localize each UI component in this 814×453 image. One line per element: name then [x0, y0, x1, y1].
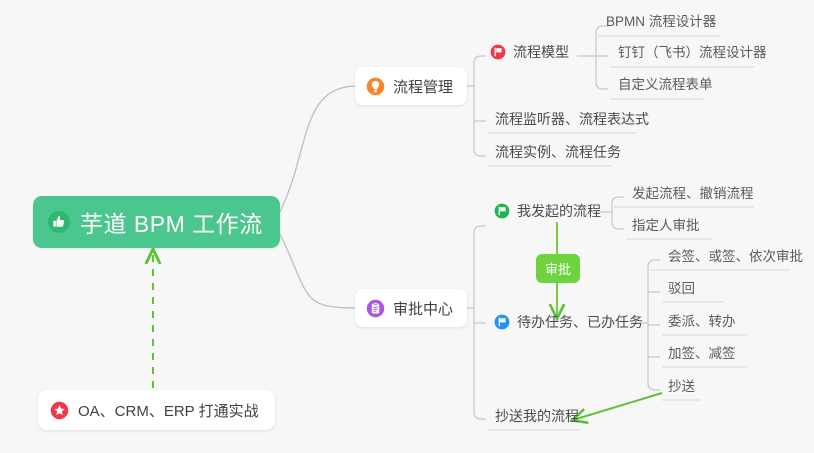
leaf-bpmn-designer[interactable]: BPMN 流程设计器 — [600, 14, 722, 34]
link-model-trunk — [596, 26, 608, 89]
lightbulb-icon — [366, 77, 385, 96]
leaf-delegate-transfer[interactable]: 委派、转办 — [662, 314, 742, 334]
leaf-dingtalk-feishu-designer[interactable]: 钉钉（飞书）流程设计器 — [612, 45, 773, 65]
root-node[interactable]: 芋道 BPM 工作流 — [33, 196, 280, 248]
leaf-process-listener-expression[interactable]: 流程监听器、流程表达式 — [489, 111, 655, 131]
branch-label-process-management: 流程管理 — [393, 76, 453, 97]
flag-green-icon — [494, 203, 510, 219]
node-process-model[interactable]: 流程模型 — [490, 44, 569, 60]
flag-red-icon — [490, 44, 506, 60]
leaf-reject[interactable]: 驳回 — [662, 281, 701, 301]
node-label-my-initiated: 我发起的流程 — [510, 203, 601, 219]
node-label-process-model: 流程模型 — [506, 44, 569, 60]
clipboard-icon — [366, 299, 385, 318]
arrow-cc-to-ccmine — [573, 393, 662, 420]
branch-process-management[interactable]: 流程管理 — [355, 67, 467, 105]
root-label: 芋道 BPM 工作流 — [80, 205, 263, 239]
mindmap-canvas: 芋道 BPM 工作流 流程管理 审批中心 — [0, 0, 814, 453]
thumbs-up-icon — [47, 210, 71, 234]
link-pm-trunk — [474, 56, 486, 156]
leaf-cc[interactable]: 抄送 — [662, 379, 701, 399]
note-card-label: OA、CRM、ERP 打通实战 — [78, 400, 259, 421]
link-todo-trunk — [648, 260, 660, 390]
link-mine-trunk — [612, 197, 624, 229]
leaf-countersign-orsign-sequential[interactable]: 会签、或签、依次审批 — [662, 249, 809, 269]
flag-blue-icon — [494, 314, 510, 330]
branch-label-approval-center: 审批中心 — [393, 298, 453, 319]
annotation-chip-approval: 审批 — [536, 254, 580, 283]
leaf-add-remove-sign[interactable]: 加签、减签 — [662, 346, 742, 366]
branch-approval-center[interactable]: 审批中心 — [355, 289, 467, 327]
node-my-initiated-processes[interactable]: 我发起的流程 — [494, 203, 601, 219]
node-label-todo-done: 待办任务、已办任务 — [510, 314, 643, 330]
note-card-integration[interactable]: OA、CRM、ERP 打通实战 — [38, 390, 275, 430]
leaf-designated-approver[interactable]: 指定人审批 — [626, 218, 706, 238]
leaf-cc-to-me[interactable]: 抄送我的流程 — [489, 408, 585, 428]
leaf-process-instance-task[interactable]: 流程实例、流程任务 — [489, 144, 627, 164]
node-todo-done-tasks[interactable]: 待办任务、已办任务 — [494, 314, 643, 330]
link-ac-trunk — [474, 226, 486, 419]
leaf-start-cancel-process[interactable]: 发起流程、撤销流程 — [626, 186, 760, 206]
leaf-custom-process-form[interactable]: 自定义流程表单 — [612, 77, 719, 97]
star-icon — [50, 401, 69, 420]
link-root-to-approval-center — [280, 234, 355, 308]
link-root-to-process-management — [280, 86, 355, 212]
